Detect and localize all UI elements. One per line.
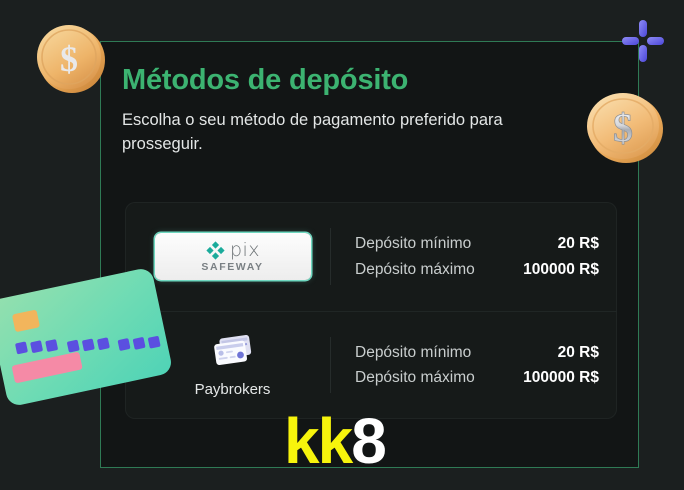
max-deposit-label: Depósito máximo: [355, 257, 475, 282]
pix-safeway-logo: pix SAFEWAY: [155, 233, 311, 280]
pix-diamond-icon: [205, 240, 226, 261]
pix-info-cell: Depósito mínimo 20 R$ Depósito máximo 10…: [331, 231, 611, 281]
brand-logo: kk8: [284, 409, 385, 473]
payment-method-row-paybrokers[interactable]: Paybrokers Depósito mínimo 20 R$ Depósit…: [125, 311, 617, 419]
coin-icon: $: [33, 21, 107, 95]
pix-logo-cell: pix SAFEWAY: [135, 233, 330, 280]
max-deposit-value: 100000 R$: [523, 365, 599, 390]
min-deposit-label: Depósito mínimo: [355, 231, 471, 256]
page-title: Métodos de depósito: [122, 64, 614, 97]
paybrokers-info-cell: Depósito mínimo 20 R$ Depósito máximo 10…: [331, 340, 611, 390]
payment-methods-panel: pix SAFEWAY Depósito mínimo 20 R$ Depósi…: [125, 202, 617, 419]
max-deposit-line: Depósito máximo 100000 R$: [355, 365, 599, 390]
svg-text:$: $: [613, 105, 633, 150]
min-deposit-line: Depósito mínimo 20 R$: [355, 340, 599, 365]
min-deposit-line: Depósito mínimo 20 R$: [355, 231, 599, 256]
coin-icon: $: [583, 89, 666, 165]
max-deposit-value: 100000 R$: [523, 257, 599, 282]
min-deposit-value: 20 R$: [558, 340, 599, 365]
page-subtitle: Escolha o seu método de pagamento prefer…: [122, 109, 562, 157]
min-deposit-value: 20 R$: [558, 231, 599, 256]
pix-safeway-subtext: SAFEWAY: [201, 262, 263, 273]
sparkle-icon: [618, 16, 668, 66]
payment-method-row-pix[interactable]: pix SAFEWAY Depósito mínimo 20 R$ Depósi…: [125, 202, 617, 311]
pix-wordmark: pix: [230, 241, 260, 260]
max-deposit-line: Depósito máximo 100000 R$: [355, 257, 599, 282]
max-deposit-label: Depósito máximo: [355, 365, 475, 390]
paybrokers-label: Paybrokers: [195, 381, 271, 398]
pix-mark-row: pix: [205, 240, 260, 261]
credit-cards-icon: [210, 333, 256, 371]
deposit-methods-container: Métodos de depósito Escolha o seu método…: [100, 41, 639, 468]
brand-logo-8: 8: [351, 405, 385, 477]
brand-logo-kk: kk: [284, 405, 351, 477]
svg-text:$: $: [60, 39, 78, 79]
min-deposit-label: Depósito mínimo: [355, 340, 471, 365]
